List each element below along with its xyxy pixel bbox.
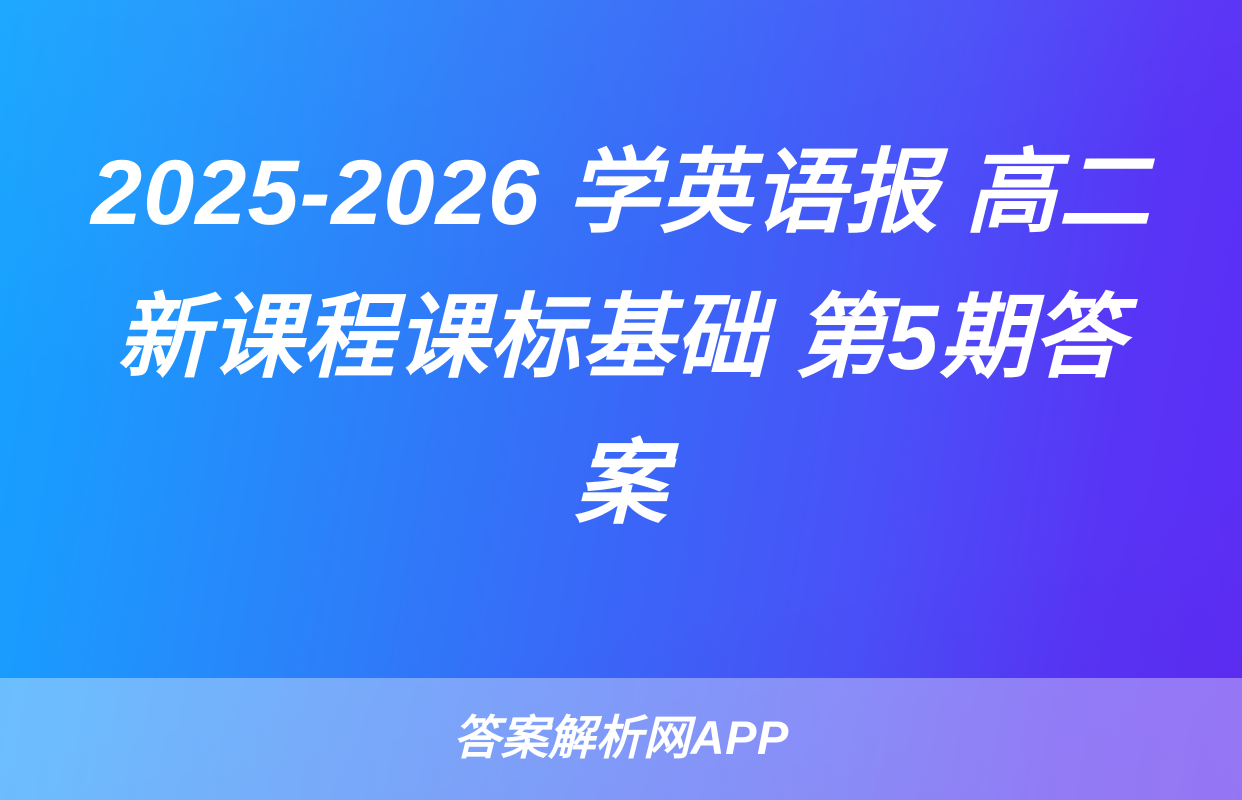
answer-key-title-card: 2025-2026 学英语报 高二 新课程课标基础 第5期答案 答案解析网APP bbox=[0, 0, 1242, 800]
app-watermark-label: 答案解析网APP bbox=[453, 714, 789, 761]
page-title: 2025-2026 学英语报 高二 新课程课标基础 第5期答案 bbox=[72, 121, 1170, 557]
footer-watermark-band: 答案解析网APP bbox=[0, 678, 1242, 800]
title-area: 2025-2026 学英语报 高二 新课程课标基础 第5期答案 bbox=[0, 0, 1242, 678]
